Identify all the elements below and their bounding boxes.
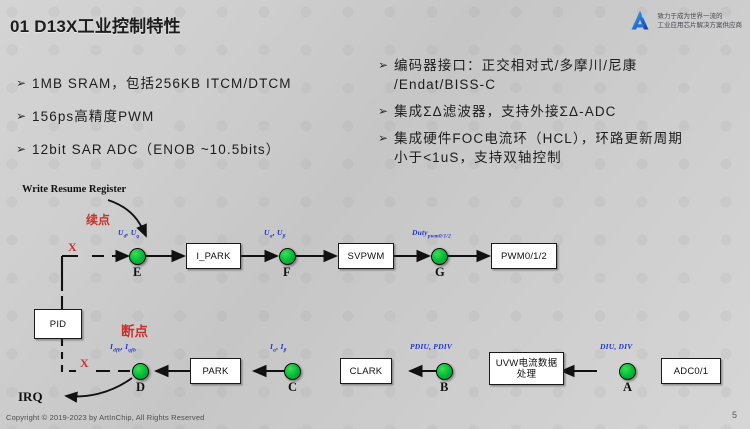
- bullet-text-line1: 编码器接口：正交相对式/多摩川/尼康: [394, 58, 637, 73]
- artinchip-logo: [627, 8, 653, 34]
- footer-page-number: 5: [732, 410, 737, 420]
- block-pid[interactable]: PID: [34, 309, 82, 339]
- signal-label-C: Iα, Iβ: [270, 342, 287, 354]
- bullet-item: ➢ 12bit SAR ADC（ENOB ~10.5bits）: [16, 140, 372, 159]
- node-B[interactable]: [436, 363, 453, 380]
- signal-label-E: Ud, Uq: [118, 228, 139, 240]
- bullet-item: ➢ 1MB SRAM，包括256KB ITCM/DTCM: [16, 74, 372, 93]
- bullet-item: ➢ 156ps高精度PWM: [16, 107, 372, 126]
- bullet-text: 1MB SRAM，包括256KB ITCM/DTCM: [32, 74, 372, 93]
- bullet-list-right: ➢ 编码器接口：正交相对式/多摩川/尼康 /Endat/BISS-C ➢ 集成Σ…: [378, 56, 746, 175]
- bullet-marker-icon: ➢: [378, 56, 394, 75]
- slide-header: 01 D13X工业控制特性 致力于成为世界一流的 工业应用芯片解决方案供应商: [0, 0, 750, 46]
- annotation-write-resume-register: Write Resume Register: [22, 184, 126, 195]
- slide-canvas: 01 D13X工业控制特性 致力于成为世界一流的 工业应用芯片解决方案供应商: [0, 0, 750, 429]
- bullet-marker-icon: ➢: [378, 129, 394, 148]
- bullet-text-line1: 集成硬件FOC电流环（HCL），环路更新周期: [394, 131, 683, 146]
- block-clark[interactable]: CLARK: [340, 358, 392, 384]
- footer-copyright: Copyright © 2019-2023 by ArtInChip, All …: [6, 413, 204, 422]
- block-uvw-current-processing[interactable]: UVW电流数据 处理: [489, 352, 564, 385]
- block-i-park[interactable]: I_PARK: [186, 243, 241, 269]
- bullet-text: 12bit SAR ADC（ENOB ~10.5bits）: [32, 140, 372, 159]
- signal-label-A: DIU, DIV: [600, 342, 632, 351]
- bullet-marker-icon: ➢: [16, 74, 32, 93]
- foc-block-diagram: Write Resume Register 续点 断点 IRQ X X I_PA…: [0, 178, 750, 410]
- brand-block: 致力于成为世界一流的 工业应用芯片解决方案供应商: [627, 8, 743, 34]
- block-svpwm[interactable]: SVPWM: [338, 243, 394, 269]
- node-C[interactable]: [284, 363, 301, 380]
- signal-label-G: Dutypwm0/1/2: [412, 228, 451, 240]
- brand-tagline: 致力于成为世界一流的 工业应用芯片解决方案供应商: [658, 12, 743, 30]
- bullet-marker-icon: ➢: [16, 107, 32, 126]
- bullet-marker-icon: ➢: [378, 102, 394, 121]
- node-label-F: F: [283, 265, 291, 280]
- node-label-E: E: [133, 265, 141, 280]
- block-park[interactable]: PARK: [190, 358, 241, 384]
- bullet-text: 编码器接口：正交相对式/多摩川/尼康 /Endat/BISS-C: [394, 56, 746, 94]
- annotation-xudian: 续点: [86, 211, 110, 228]
- node-label-D: D: [136, 380, 145, 395]
- annotation-duandian: 断点: [121, 320, 148, 340]
- signal-label-F: Uα, Uβ: [264, 228, 286, 240]
- bullet-marker-icon: ➢: [16, 140, 32, 159]
- bullet-item: ➢ 集成ΣΔ滤波器，支持外接ΣΔ-ADC: [378, 102, 746, 121]
- signal-label-D: Idfb, Iqfb: [110, 342, 136, 354]
- bullet-text: 集成硬件FOC电流环（HCL），环路更新周期 小于<1uS，支持双轴控制: [394, 129, 746, 167]
- bullet-text: 156ps高精度PWM: [32, 107, 372, 126]
- node-F[interactable]: [279, 248, 296, 265]
- artinchip-logo-svg: [627, 8, 653, 34]
- node-label-C: C: [288, 380, 297, 395]
- bullet-text: 集成ΣΔ滤波器，支持外接ΣΔ-ADC: [394, 102, 746, 121]
- node-A[interactable]: [619, 363, 636, 380]
- block-pwm012[interactable]: PWM0/1/2: [491, 243, 557, 269]
- node-E[interactable]: [129, 248, 146, 265]
- block-adc01[interactable]: ADC0/1: [661, 358, 721, 384]
- bullet-text-line2: /Endat/BISS-C: [394, 75, 746, 94]
- node-label-G: G: [435, 265, 445, 280]
- annotation-irq: IRQ: [18, 389, 43, 405]
- node-D[interactable]: [132, 363, 149, 380]
- break-x-mark-bottom: X: [80, 356, 89, 371]
- bullet-item: ➢ 编码器接口：正交相对式/多摩川/尼康 /Endat/BISS-C: [378, 56, 746, 94]
- node-label-A: A: [623, 380, 632, 395]
- signal-label-B: PDIU, PDIV: [410, 342, 452, 351]
- bullet-list-left: ➢ 1MB SRAM，包括256KB ITCM/DTCM ➢ 156ps高精度P…: [16, 74, 372, 173]
- node-G[interactable]: [431, 248, 448, 265]
- bullet-item: ➢ 集成硬件FOC电流环（HCL），环路更新周期 小于<1uS，支持双轴控制: [378, 129, 746, 167]
- break-x-mark-top: X: [68, 240, 77, 255]
- node-label-B: B: [440, 380, 448, 395]
- page-title: 01 D13X工业控制特性: [10, 12, 181, 37]
- bullet-text-line2: 小于<1uS，支持双轴控制: [394, 148, 746, 167]
